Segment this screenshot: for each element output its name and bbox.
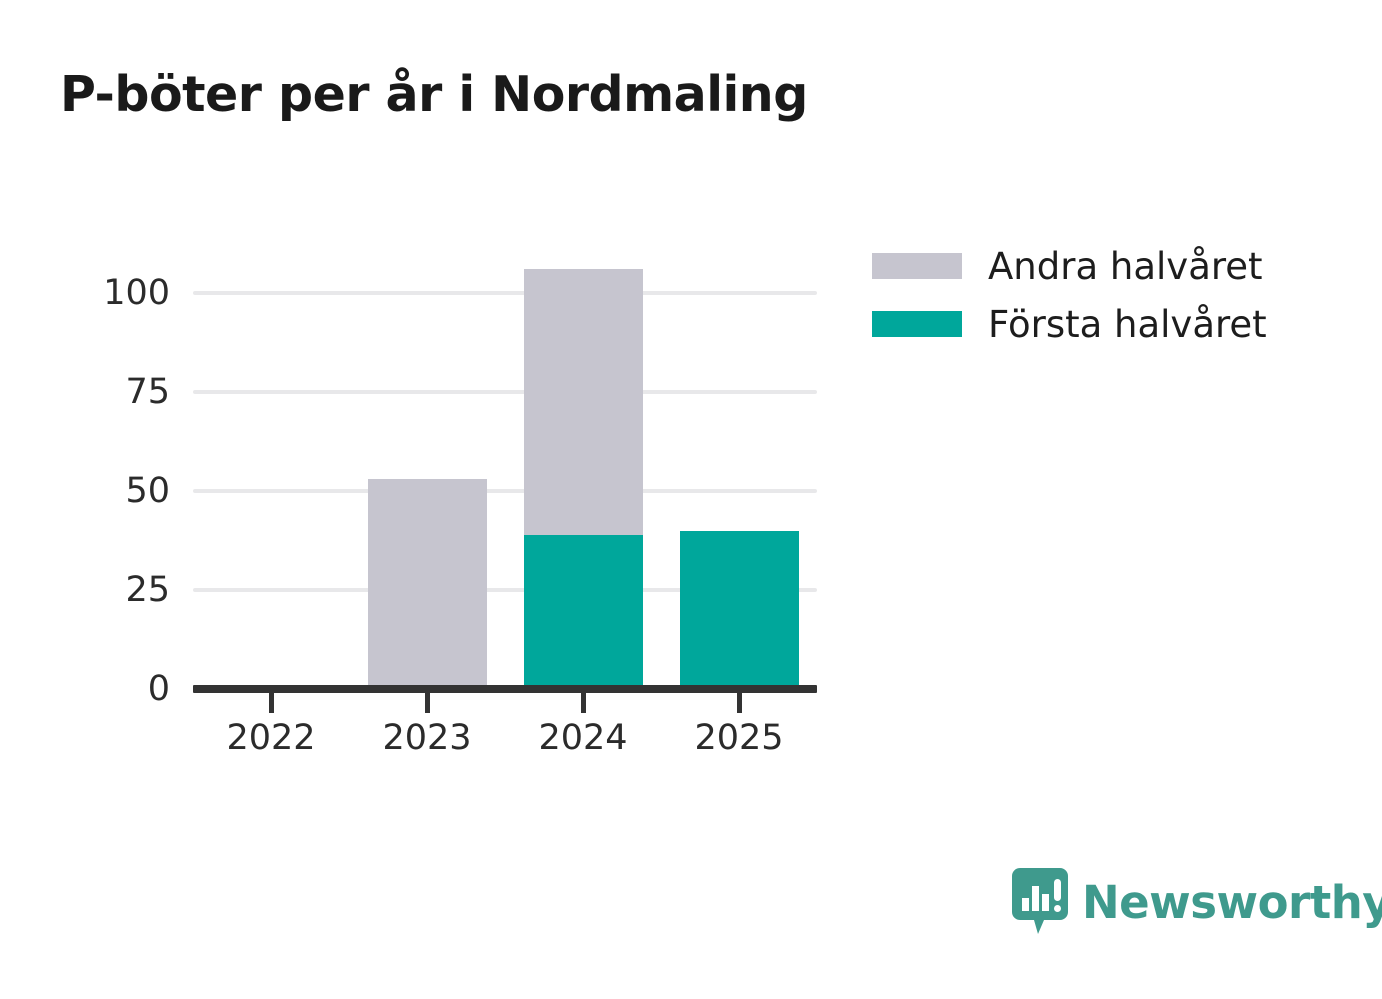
x-tick-label-2024: 2024 xyxy=(503,718,663,758)
bar-2025[interactable] xyxy=(680,531,799,689)
gridline-50 xyxy=(193,489,817,493)
x-tick-label-2025: 2025 xyxy=(659,718,819,758)
y-tick-label-100: 100 xyxy=(60,273,170,313)
bar-segment-andra-halvaret-2024[interactable] xyxy=(524,269,643,534)
gridline-100 xyxy=(193,291,817,295)
legend-item-forsta-halvaret[interactable]: Första halvåret xyxy=(872,296,1267,352)
y-tick-label-75: 75 xyxy=(60,372,170,412)
plot-area xyxy=(193,293,817,689)
newsworthy-logo: Newsworthy xyxy=(1012,868,1382,936)
legend-swatch-icon xyxy=(872,311,962,337)
gridline-75 xyxy=(193,390,817,394)
y-tick-label-0: 0 xyxy=(60,669,170,709)
bar-2023[interactable] xyxy=(368,479,487,689)
newsworthy-wordmark: Newsworthy xyxy=(1082,876,1382,929)
legend-label: Första halvåret xyxy=(988,303,1267,346)
x-tick-mark-2025 xyxy=(737,693,742,713)
page-title: P-böter per år i Nordmaling xyxy=(60,66,808,123)
bar-2024[interactable] xyxy=(524,269,643,689)
bar-segment-andra-halvaret-2023[interactable] xyxy=(368,479,487,689)
bar-segment-forsta-halvaret-2024[interactable] xyxy=(524,535,643,689)
x-axis-line xyxy=(193,685,817,693)
bar-segment-forsta-halvaret-2025[interactable] xyxy=(680,531,799,689)
x-tick-label-2023: 2023 xyxy=(347,718,507,758)
x-tick-mark-2023 xyxy=(425,693,430,713)
legend-item-andra-halvaret[interactable]: Andra halvåret xyxy=(872,238,1267,294)
y-tick-label-25: 25 xyxy=(60,570,170,610)
legend-label: Andra halvåret xyxy=(988,245,1263,288)
legend-swatch-icon xyxy=(872,253,962,279)
y-axis-labels: 0255075100 xyxy=(60,293,170,689)
x-tick-mark-2024 xyxy=(581,693,586,713)
x-tick-label-2022: 2022 xyxy=(191,718,351,758)
y-tick-label-50: 50 xyxy=(60,471,170,511)
newsworthy-bubble-chart-icon xyxy=(1012,868,1068,936)
x-tick-mark-2022 xyxy=(269,693,274,713)
chart-legend: Andra halvåretFörsta halvåret xyxy=(872,238,1267,354)
